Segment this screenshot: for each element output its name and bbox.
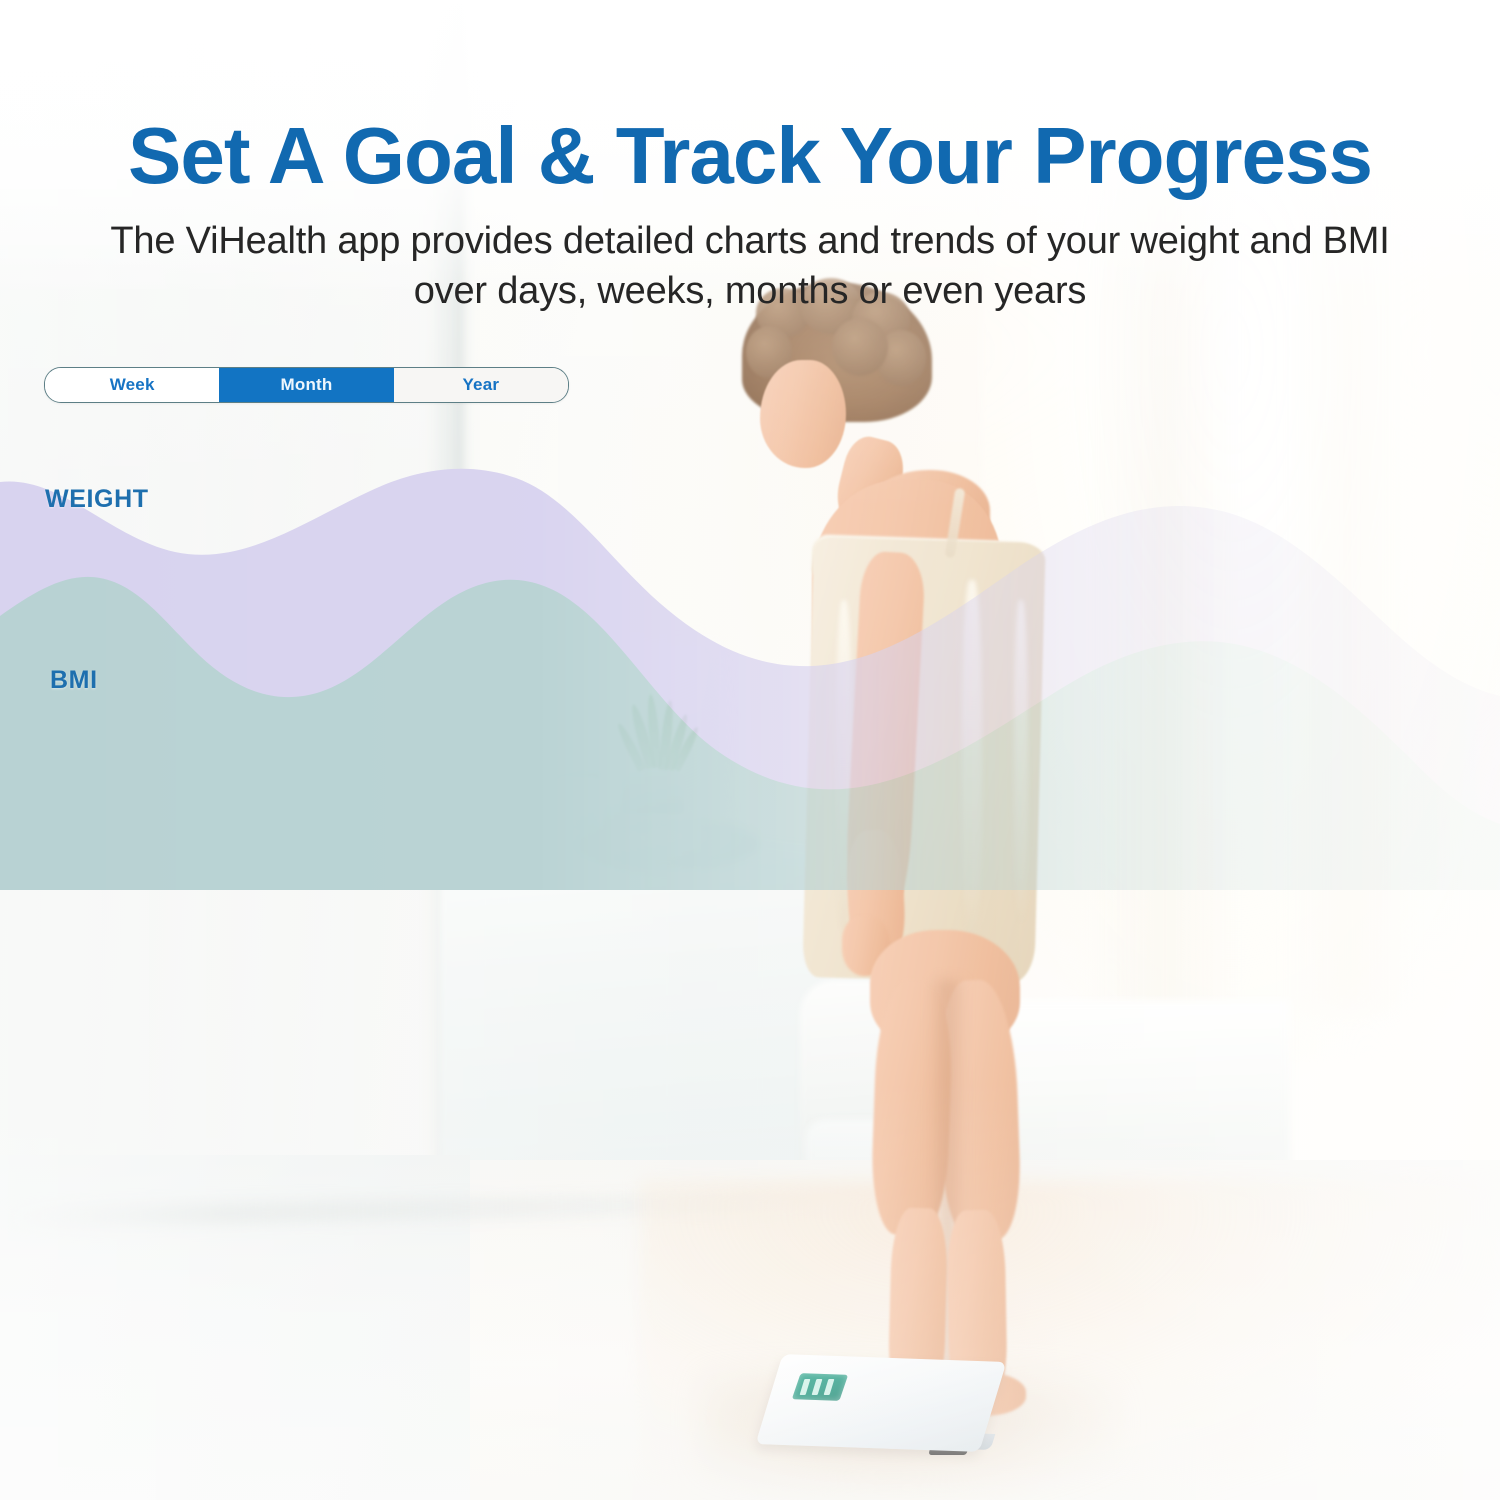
bmi-series-label: BMI [50, 666, 98, 695]
hair-curl-6 [832, 318, 888, 376]
marketing-banner: Set A Goal & Track Your Progress The ViH… [0, 0, 1500, 1500]
weight-series-label: WEIGHT [45, 485, 149, 514]
time-range-segmented-control[interactable]: Week Month Year [44, 367, 569, 403]
towel-fold-3 [1014, 600, 1028, 920]
page-title: Set A Goal & Track Your Progress [0, 116, 1500, 196]
segment-year[interactable]: Year [394, 368, 568, 402]
towel-fold-2 [962, 580, 982, 940]
segment-week[interactable]: Week [45, 368, 219, 402]
page-subtitle: The ViHealth app provides detailed chart… [90, 216, 1410, 316]
smart-scale [756, 1354, 1007, 1452]
scale-led-display [792, 1373, 848, 1401]
face [760, 360, 846, 468]
segment-month[interactable]: Month [219, 368, 393, 402]
